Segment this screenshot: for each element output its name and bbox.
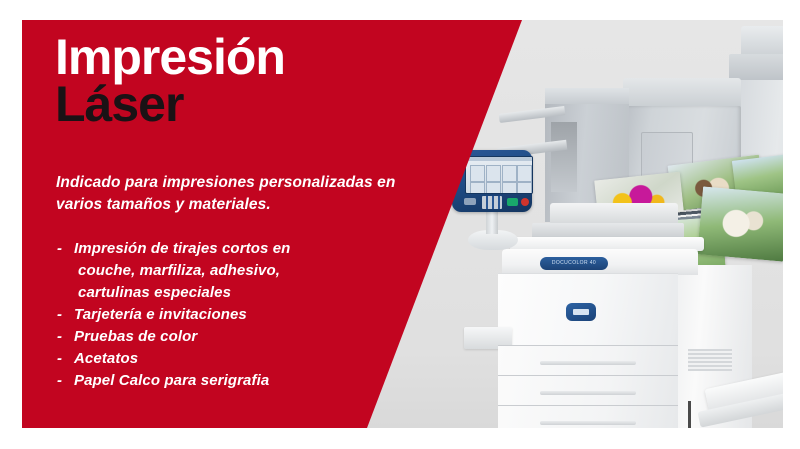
lead-paragraph: Indicado para impresiones personalizadas… bbox=[56, 172, 396, 216]
mfp-drawer-divider bbox=[498, 405, 678, 406]
list-item-label: Acetatos bbox=[74, 350, 138, 367]
list-item: Impresión de tirajes cortos en couche, m… bbox=[56, 238, 406, 304]
feature-list: Impresión de tirajes cortos en couche, m… bbox=[56, 238, 406, 392]
mfp-drawer-divider bbox=[498, 375, 678, 376]
list-item-label: Papel Calco para serigrafia bbox=[74, 372, 269, 389]
list-item: Papel Calco para serigrafia bbox=[56, 370, 406, 392]
mfp-drawer-divider bbox=[498, 345, 678, 346]
console-screen-cell bbox=[470, 165, 485, 182]
console-screen-cell bbox=[502, 165, 517, 182]
mfp-model-badge-text: DOCUCOLOR 40 bbox=[540, 257, 608, 270]
list-item-label: Pruebas de color bbox=[74, 328, 197, 345]
mfp-brand-logo bbox=[566, 303, 596, 321]
poster: DOCUCOLOR 40 bbox=[0, 0, 800, 449]
mfp-paper-drawers bbox=[498, 345, 678, 428]
console-start-button bbox=[507, 198, 518, 206]
list-item-label-cont: cartulinas especiales bbox=[74, 282, 406, 304]
console-screen-cell bbox=[502, 182, 517, 194]
list-item: Pruebas de color bbox=[56, 326, 406, 348]
console-screen-titlebar bbox=[466, 157, 532, 161]
page-title: Impresión Láser bbox=[55, 34, 455, 128]
mfp-power-cable bbox=[688, 401, 713, 428]
list-item: Acetatos bbox=[56, 348, 406, 370]
mfp-drawer-handle bbox=[540, 391, 636, 395]
console-screen-cell bbox=[486, 182, 501, 194]
mfp-model-badge: DOCUCOLOR 40 bbox=[540, 257, 608, 270]
console-screen-cell bbox=[486, 165, 501, 182]
finisher-slot bbox=[551, 122, 577, 192]
mfp-vent bbox=[688, 349, 732, 371]
poster-text-content: Impresión Láser Indicado para impresione… bbox=[0, 0, 470, 449]
title-line-primary: Impresión bbox=[55, 34, 455, 81]
printer-top-cover bbox=[623, 78, 741, 108]
printer-feeder-lid bbox=[729, 54, 783, 80]
console-screen-cell bbox=[517, 165, 532, 182]
list-item-label: Tarjetería e invitaciones bbox=[74, 306, 247, 323]
list-item-label: Impresión de tirajes cortos en bbox=[74, 240, 290, 257]
list-item: Tarjetería e invitaciones bbox=[56, 304, 406, 326]
list-item-label-cont: couche, marfiliza, adhesivo, bbox=[74, 260, 406, 282]
console-neck bbox=[486, 210, 498, 234]
console-keypad bbox=[482, 196, 502, 209]
mfp-drawer-handle bbox=[540, 421, 636, 425]
console-stop-button bbox=[521, 198, 529, 206]
mfp-document-feeder bbox=[550, 203, 678, 225]
mfp-drawer-handle bbox=[540, 361, 636, 365]
title-line-secondary: Láser bbox=[55, 81, 455, 128]
console-screen-cell bbox=[517, 182, 532, 194]
console-screen-cell bbox=[470, 182, 485, 194]
console-touchscreen bbox=[465, 156, 533, 194]
